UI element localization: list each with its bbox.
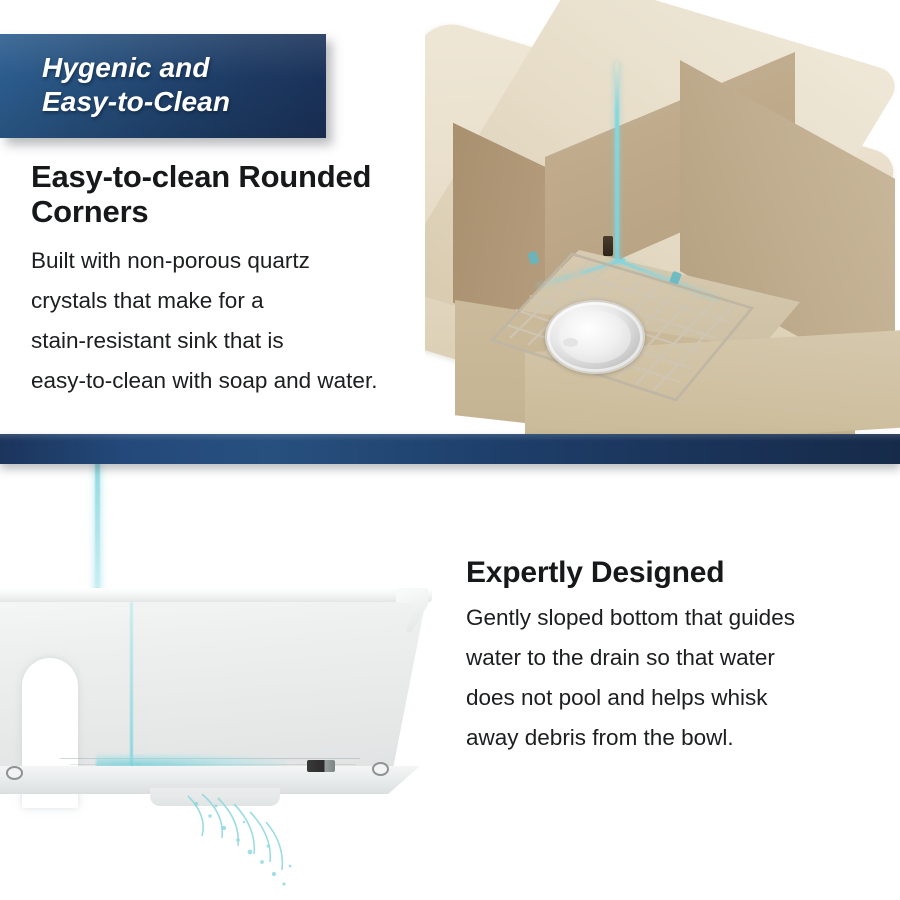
- sink-top-rim: [0, 588, 432, 602]
- water-stream-falling: [95, 462, 100, 598]
- corner-water-highlight-vertical: [615, 62, 619, 262]
- feature-block-rounded-corners: Easy-to-clean Rounded Corners Built with…: [31, 160, 436, 401]
- feature-top-heading: Easy-to-clean Rounded Corners: [31, 160, 436, 229]
- badge-line-2: Easy-to-Clean: [42, 85, 326, 119]
- section-divider-band: [0, 434, 900, 464]
- drain-tab: [563, 338, 578, 347]
- feature-block-expertly-designed: Expertly Designed Gently sloped bottom t…: [466, 556, 866, 758]
- grid-rack-clip: [603, 236, 613, 256]
- sink-drain: [545, 300, 645, 374]
- badge-text: Hygenic and Easy-to-Clean: [0, 34, 326, 120]
- feature-top-body-line-1: Built with non-porous quartz: [31, 241, 436, 281]
- sink-render-stage: [425, 0, 900, 452]
- feature-bottom-body-line-1: Gently sloped bottom that guides: [466, 598, 866, 638]
- infographic-page: Hygenic and Easy-to-Clean Easy-to-clean …: [0, 0, 900, 900]
- mounting-hole-right: [372, 762, 389, 776]
- feature-bottom-body-line-3: does not pool and helps whisk: [466, 678, 866, 718]
- feature-top-body-line-3: stain-resistant sink that is: [31, 321, 436, 361]
- water-stream-inner-wall: [130, 602, 133, 770]
- feature-top-body: Built with non-porous quartz crystals th…: [31, 229, 436, 401]
- feature-bottom-body: Gently sloped bottom that guides water t…: [466, 590, 866, 758]
- feature-bottom-body-line-4: away debris from the bowl.: [466, 718, 866, 758]
- white-sink-sloped-bottom-photo: [0, 462, 460, 900]
- mounting-hole-left: [6, 766, 23, 780]
- beige-quartz-sink-photo: [425, 0, 900, 452]
- badge-line-1: Hygenic and: [42, 51, 326, 85]
- feature-bottom-heading: Expertly Designed: [466, 556, 866, 590]
- water-splash: [180, 792, 350, 900]
- hygenic-easy-to-clean-badge: Hygenic and Easy-to-Clean: [0, 34, 326, 138]
- feature-top-body-line-2: crystals that make for a: [31, 281, 436, 321]
- feature-bottom-body-line-2: water to the drain so that water: [466, 638, 866, 678]
- drain-strainer: [559, 311, 631, 363]
- product-label-plate: [307, 760, 335, 772]
- feature-top-body-line-4: easy-to-clean with soap and water.: [31, 361, 436, 401]
